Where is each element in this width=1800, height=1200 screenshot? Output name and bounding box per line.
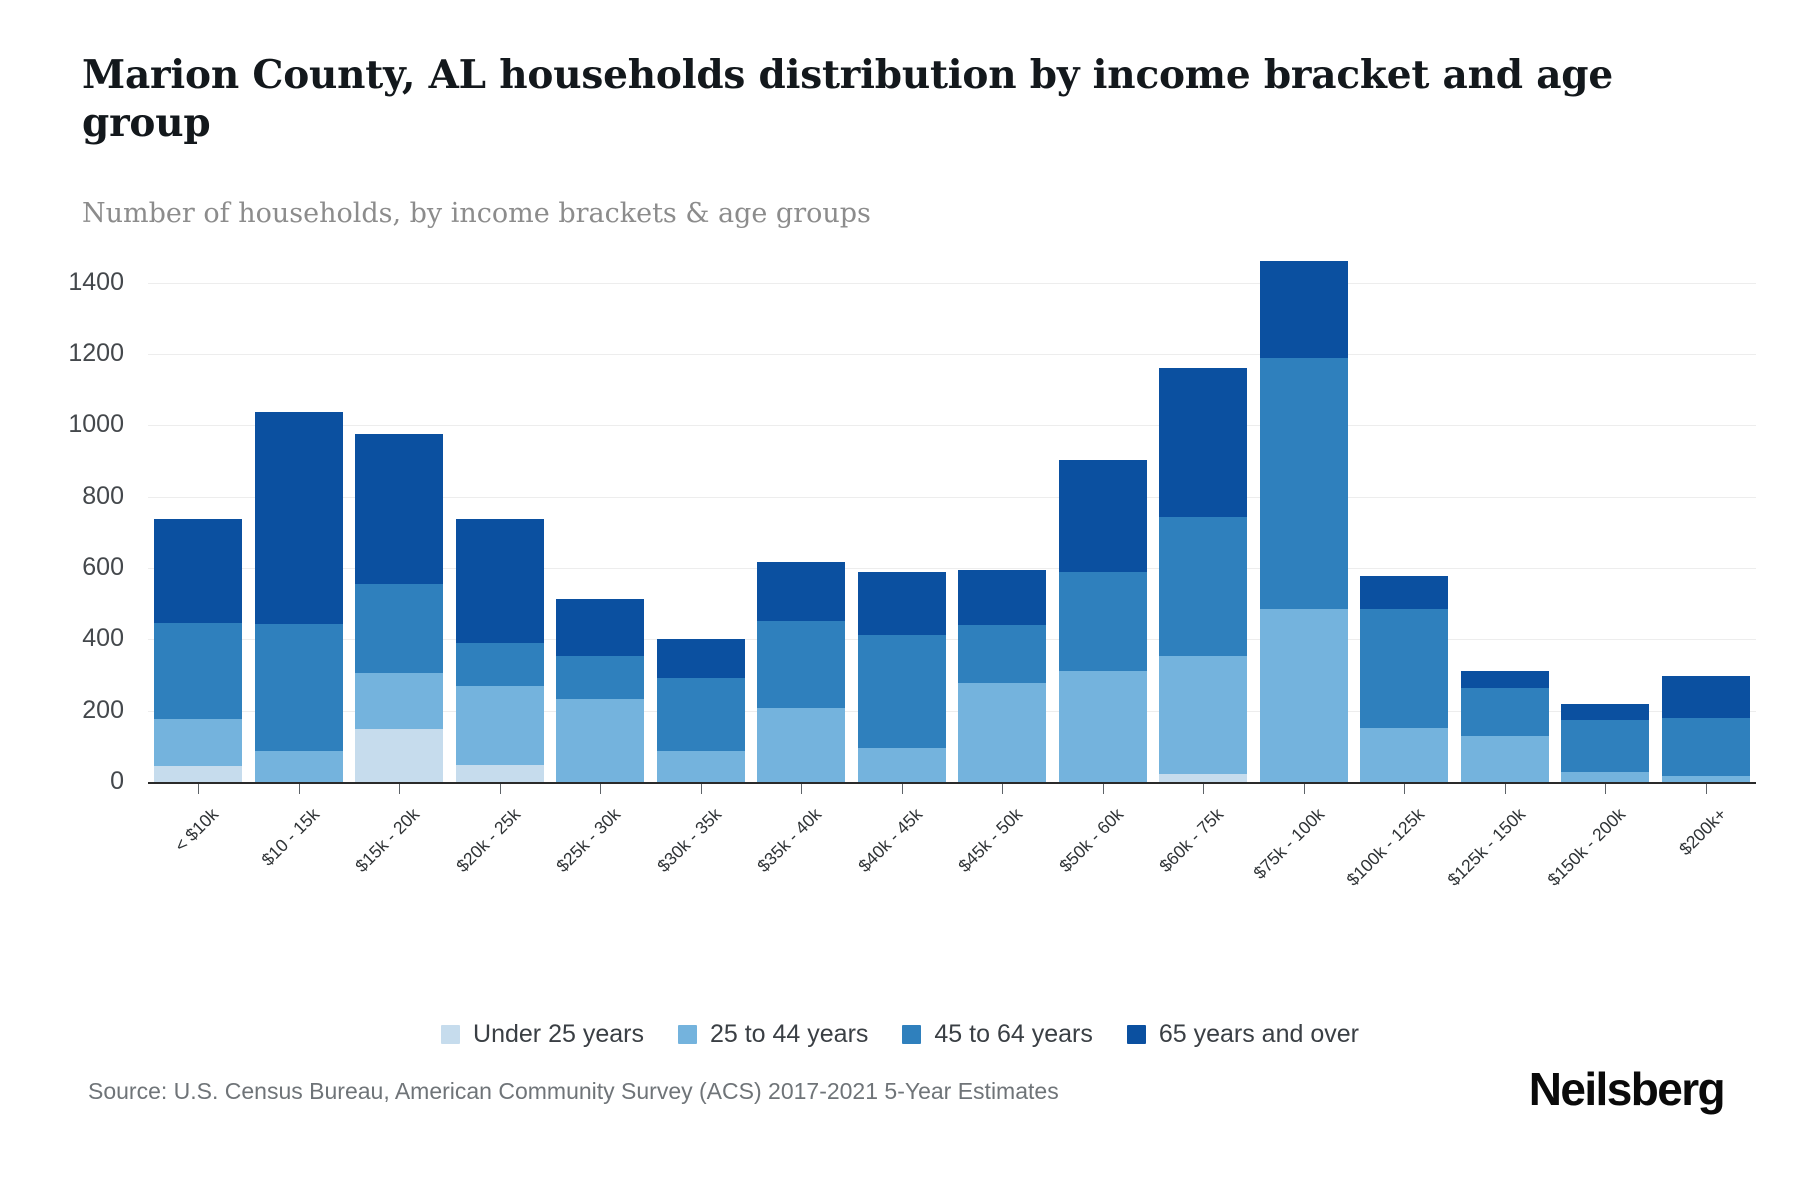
bar-segment[interactable] xyxy=(1260,609,1348,782)
bar-segment[interactable] xyxy=(858,635,946,748)
legend-swatch-icon xyxy=(902,1025,921,1044)
legend-swatch-icon xyxy=(1127,1025,1146,1044)
bar-segment[interactable] xyxy=(757,621,845,708)
bar-segment[interactable] xyxy=(858,572,946,634)
x-axis-tick-label: $15k - 20k xyxy=(351,804,424,877)
y-axis-tick-label: 0 xyxy=(14,769,124,794)
x-axis-tick-label: $60k - 75k xyxy=(1155,804,1228,877)
bar-stack[interactable] xyxy=(355,434,443,782)
x-axis-tick-label: $45k - 50k xyxy=(954,804,1027,877)
x-axis-tick-mark xyxy=(1706,784,1707,794)
bar-segment[interactable] xyxy=(255,751,343,782)
bar-segment[interactable] xyxy=(1360,609,1448,728)
x-axis-tick-label: $40k - 45k xyxy=(854,804,927,877)
bar-segment[interactable] xyxy=(456,765,544,782)
bar-segment[interactable] xyxy=(255,624,343,751)
bar-segment[interactable] xyxy=(556,699,644,782)
x-axis-tick-mark xyxy=(701,784,702,794)
x-axis-line xyxy=(148,782,1756,784)
brand-logo: Neilsberg xyxy=(1529,1062,1724,1116)
legend-item-2[interactable]: 45 to 64 years xyxy=(902,1022,1092,1047)
y-axis-tick-label: 800 xyxy=(14,484,124,509)
bar-segment[interactable] xyxy=(154,766,242,782)
x-axis-tick-mark xyxy=(1605,784,1606,794)
x-axis-tick-mark xyxy=(902,784,903,794)
bar-segment[interactable] xyxy=(958,625,1046,682)
y-axis-tick-label: 1400 xyxy=(14,270,124,295)
legend-label: 45 to 64 years xyxy=(934,1022,1092,1047)
bar-segment[interactable] xyxy=(1059,460,1147,572)
bar-segment[interactable] xyxy=(1260,358,1348,609)
bar-segment[interactable] xyxy=(1059,572,1147,671)
x-axis-tick-mark xyxy=(299,784,300,794)
bar-segment[interactable] xyxy=(255,412,343,625)
bar-stack[interactable] xyxy=(958,570,1046,782)
bar-segment[interactable] xyxy=(154,519,242,623)
x-axis-tick-mark xyxy=(1404,784,1405,794)
x-axis-tick-label: < $10k xyxy=(171,804,223,856)
bar-stack[interactable] xyxy=(255,412,343,782)
chart-legend: Under 25 years25 to 44 years45 to 64 yea… xyxy=(0,1022,1800,1047)
bar-segment[interactable] xyxy=(1561,704,1649,719)
bar-segment[interactable] xyxy=(657,639,745,678)
y-axis-tick-label: 400 xyxy=(14,626,124,651)
x-axis-tick-mark xyxy=(1304,784,1305,794)
bar-segment[interactable] xyxy=(1159,774,1247,782)
bar-segment[interactable] xyxy=(1159,517,1247,655)
y-axis-tick-label: 200 xyxy=(14,698,124,723)
legend-label: Under 25 years xyxy=(473,1022,644,1047)
bar-segment[interactable] xyxy=(1260,261,1348,358)
x-axis-tick-label: $200k+ xyxy=(1675,804,1731,860)
chart-plot-area: 0200400600800100012001400< $10k$10 - 15k… xyxy=(0,0,1800,1200)
bar-segment[interactable] xyxy=(958,570,1046,625)
bar-stack[interactable] xyxy=(154,519,242,782)
legend-swatch-icon xyxy=(678,1025,697,1044)
gridline xyxy=(148,354,1756,355)
bar-segment[interactable] xyxy=(1662,776,1750,782)
bar-stack[interactable] xyxy=(1461,671,1549,782)
source-note: Source: U.S. Census Bureau, American Com… xyxy=(88,1078,1059,1105)
bar-segment[interactable] xyxy=(1662,676,1750,718)
bar-segment[interactable] xyxy=(1561,772,1649,782)
bar-segment[interactable] xyxy=(757,708,845,782)
bar-segment[interactable] xyxy=(1461,688,1549,737)
y-axis-tick-label: 1000 xyxy=(14,412,124,437)
x-axis-tick-mark xyxy=(1203,784,1204,794)
bar-stack[interactable] xyxy=(858,572,946,782)
bar-stack[interactable] xyxy=(1662,676,1750,782)
bar-stack[interactable] xyxy=(1059,460,1147,782)
x-axis-tick-label: $30k - 35k xyxy=(653,804,726,877)
bar-segment[interactable] xyxy=(657,751,745,782)
bar-stack[interactable] xyxy=(456,519,544,782)
bar-segment[interactable] xyxy=(1159,656,1247,774)
x-axis-tick-label: $10 - 15k xyxy=(257,804,323,870)
bar-segment[interactable] xyxy=(556,656,644,700)
bar-stack[interactable] xyxy=(1260,261,1348,782)
gridline xyxy=(148,425,1756,426)
bar-segment[interactable] xyxy=(355,434,443,584)
bar-segment[interactable] xyxy=(958,683,1046,783)
bar-segment[interactable] xyxy=(1461,736,1549,782)
x-axis-tick-label: $100k - 125k xyxy=(1343,804,1429,890)
bar-segment[interactable] xyxy=(556,599,644,656)
x-axis-tick-label: $25k - 30k xyxy=(552,804,625,877)
legend-label: 65 years and over xyxy=(1159,1022,1359,1047)
x-axis-tick-label: $50k - 60k xyxy=(1055,804,1128,877)
x-axis-tick-mark xyxy=(399,784,400,794)
x-axis-tick-label: $75k - 100k xyxy=(1249,804,1329,884)
x-axis-tick-mark xyxy=(500,784,501,794)
x-axis-tick-label: $125k - 150k xyxy=(1443,804,1529,890)
x-axis-tick-mark xyxy=(600,784,601,794)
bar-stack[interactable] xyxy=(757,562,845,782)
y-axis-tick-label: 1200 xyxy=(14,341,124,366)
bar-segment[interactable] xyxy=(757,562,845,621)
bar-segment[interactable] xyxy=(456,686,544,765)
bar-segment[interactable] xyxy=(1461,671,1549,688)
bar-segment[interactable] xyxy=(1662,718,1750,776)
x-axis-tick-mark xyxy=(1002,784,1003,794)
bar-segment[interactable] xyxy=(1360,576,1448,609)
x-axis-tick-mark xyxy=(1103,784,1104,794)
legend-swatch-icon xyxy=(441,1025,460,1044)
bar-segment[interactable] xyxy=(858,748,946,782)
x-axis-tick-label: $35k - 40k xyxy=(753,804,826,877)
gridline xyxy=(148,283,1756,284)
chart-page: Marion County, AL households distributio… xyxy=(0,0,1800,1200)
bar-stack[interactable] xyxy=(657,639,745,782)
bar-stack[interactable] xyxy=(1159,368,1247,782)
legend-item-3[interactable]: 65 years and over xyxy=(1127,1022,1359,1047)
bar-segment[interactable] xyxy=(657,678,745,751)
y-axis-tick-label: 600 xyxy=(14,555,124,580)
bar-stack[interactable] xyxy=(1561,704,1649,782)
bar-segment[interactable] xyxy=(456,643,544,686)
legend-item-0[interactable]: Under 25 years xyxy=(441,1022,644,1047)
bar-stack[interactable] xyxy=(556,599,644,782)
bar-segment[interactable] xyxy=(355,673,443,729)
bar-segment[interactable] xyxy=(1360,728,1448,782)
bar-segment[interactable] xyxy=(1159,368,1247,517)
bar-segment[interactable] xyxy=(355,584,443,673)
x-axis-tick-mark xyxy=(801,784,802,794)
legend-label: 25 to 44 years xyxy=(710,1022,868,1047)
bar-segment[interactable] xyxy=(154,719,242,766)
bar-segment[interactable] xyxy=(154,623,242,719)
bar-segment[interactable] xyxy=(1059,671,1147,782)
x-axis-tick-label: $20k - 25k xyxy=(452,804,525,877)
bar-segment[interactable] xyxy=(456,519,544,643)
x-axis-tick-mark xyxy=(198,784,199,794)
x-axis-tick-label: $150k - 200k xyxy=(1544,804,1630,890)
x-axis-tick-mark xyxy=(1505,784,1506,794)
bar-segment[interactable] xyxy=(355,729,443,782)
bar-segment[interactable] xyxy=(1561,720,1649,772)
legend-item-1[interactable]: 25 to 44 years xyxy=(678,1022,868,1047)
bar-stack[interactable] xyxy=(1360,576,1448,782)
